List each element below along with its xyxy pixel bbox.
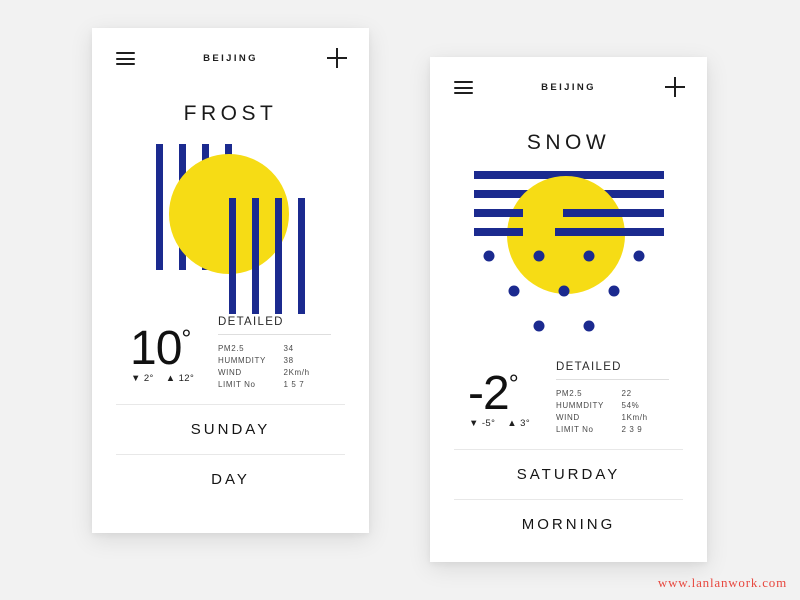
degree-symbol: ° [181,325,191,353]
detail-label: HUMMDITY [556,399,622,411]
detail-label: PM2.5 [556,387,622,399]
temperature-value: -2° [468,359,519,419]
detail-table: PM2.5 22 HUMMDITY 54% WIND 1Km/h LIMIT N… [556,387,669,436]
table-row: WIND 2Km/h [218,366,331,378]
table-row: PM2.5 34 [218,342,331,354]
weather-card-frost[interactable]: BEIJING FROST 10° ▼ 2°▲ 12° DETAILED P [92,28,369,533]
detail-label: LIMIT No [218,379,284,391]
detail-value: 34 [284,342,331,354]
detailed-label: DETAILED [556,361,669,380]
weather-readout: 10° ▼ 2°▲ 12° DETAILED PM2.5 34 HUMMDITY… [130,314,331,400]
temperature-low: ▼ 2° [131,373,154,384]
temperature-range: ▼ -5°▲ 3° [469,418,530,429]
detail-panel: DETAILED PM2.5 34 HUMMDITY 38 WIND 2Km/h… [218,316,331,391]
detail-table: PM2.5 34 HUMMDITY 38 WIND 2Km/h LIMIT No… [218,342,331,391]
temperature-range: ▼ 2°▲ 12° [131,373,194,384]
detail-value: 1 5 7 [284,379,331,391]
detail-label: WIND [556,411,622,423]
detail-value: 54% [622,399,669,411]
detail-label: HUMMDITY [218,354,284,366]
detail-value: 1Km/h [622,411,669,423]
weather-readout: -2° ▼ -5°▲ 3° DETAILED PM2.5 22 HUMMDITY… [468,359,669,445]
table-row: HUMMDITY 54% [556,399,669,411]
detail-value: 2 3 9 [622,424,669,436]
period-row[interactable]: MORNING [454,499,683,549]
table-row: LIMIT No 2 3 9 [556,424,669,436]
temperature-high: ▲ 12° [166,373,194,384]
table-row: PM2.5 22 [556,387,669,399]
detail-value: 38 [284,354,331,366]
temperature-low: ▼ -5° [469,418,495,429]
snow-illustration [430,163,707,359]
table-row: HUMMDITY 38 [218,354,331,366]
temperature-value: 10° [130,314,191,374]
table-row: LIMIT No 1 5 7 [218,379,331,391]
frost-illustration [92,136,369,314]
condition-title: SNOW [430,131,707,155]
day-row[interactable]: SATURDAY [454,449,683,499]
card-header: BEIJING [430,57,707,115]
detail-value: 2Km/h [284,366,331,378]
card-header: BEIJING [92,28,369,86]
degree-symbol: ° [509,370,519,398]
table-row: WIND 1Km/h [556,411,669,423]
detail-label: WIND [218,366,284,378]
watermark-text: www.lanlanwork.com [658,575,787,591]
period-row[interactable]: DAY [116,454,345,504]
plus-icon[interactable] [665,77,685,97]
condition-title: FROST [92,102,369,126]
detail-label: PM2.5 [218,342,284,354]
frost-graphic [92,136,369,314]
day-row[interactable]: SUNDAY [116,404,345,454]
detail-label: LIMIT No [556,424,622,436]
plus-icon[interactable] [327,48,347,68]
detailed-label: DETAILED [218,316,331,335]
temperature-high: ▲ 3° [507,418,530,429]
weather-card-snow[interactable]: BEIJING SNOW [430,57,707,562]
detail-panel: DETAILED PM2.5 22 HUMMDITY 54% WIND 1Km/… [556,361,669,436]
detail-value: 22 [622,387,669,399]
snow-graphic [430,163,707,359]
